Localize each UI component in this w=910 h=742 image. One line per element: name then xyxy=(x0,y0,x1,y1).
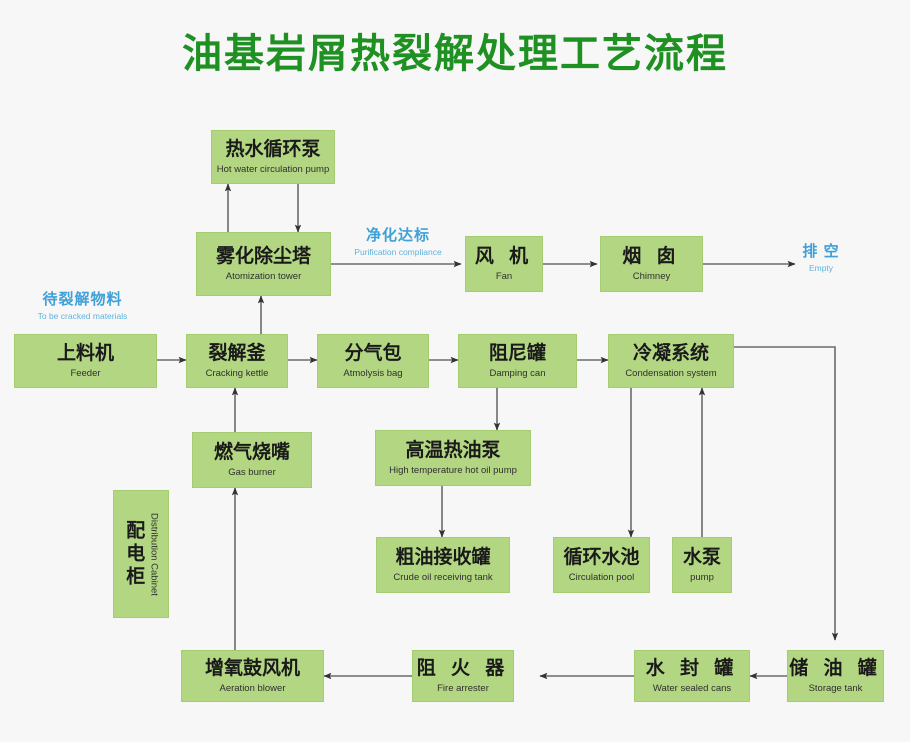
node-hot-oil-pump[interactable]: 高温热油泵 High temperature hot oil pump xyxy=(375,430,531,486)
node-label-en: Feeder xyxy=(70,368,100,379)
node-atmolysis-bag[interactable]: 分气包 Atmolysis bag xyxy=(317,334,429,388)
node-fan[interactable]: 风 机 Fan xyxy=(465,236,543,292)
node-label-en: Aeration blower xyxy=(219,683,285,694)
node-storage-tank[interactable]: 储 油 罐 Storage tank xyxy=(787,650,884,702)
node-label-cn: 粗油接收罐 xyxy=(395,547,490,569)
note-empty: 排 空 Empty xyxy=(790,244,852,273)
node-label-cn: 热水循环泵 xyxy=(225,139,320,161)
node-water-sealed-cans[interactable]: 水 封 罐 Water sealed cans xyxy=(634,650,750,702)
flowchart-canvas: 油基岩屑热裂解处理工艺流程 xyxy=(0,0,910,742)
node-atomization-tower[interactable]: 雾化除尘塔 Atomization tower xyxy=(196,232,331,296)
note-label-cn: 净化达标 xyxy=(338,228,458,245)
node-label-cn: 燃气烧嘴 xyxy=(214,442,290,464)
node-label-cn: 烟 囱 xyxy=(622,246,680,268)
node-water-pump[interactable]: 水泵 pump xyxy=(672,537,732,593)
node-feeder[interactable]: 上料机 Feeder xyxy=(14,334,157,388)
node-distribution-cabinet[interactable]: 配电柜 Distribution Cabinet xyxy=(113,490,169,618)
node-crude-oil-receiving-tank[interactable]: 粗油接收罐 Crude oil receiving tank xyxy=(376,537,510,593)
node-label-cn: 水 封 罐 xyxy=(646,658,739,680)
node-label-en: Cracking kettle xyxy=(206,368,269,379)
node-label-en: Condensation system xyxy=(625,368,716,379)
node-damping-can[interactable]: 阻尼罐 Damping can xyxy=(458,334,577,388)
node-label-cn: 雾化除尘塔 xyxy=(216,246,311,268)
node-chimney[interactable]: 烟 囱 Chimney xyxy=(600,236,703,292)
node-label-cn: 阻尼罐 xyxy=(489,343,546,365)
node-label-en: Hot water circulation pump xyxy=(217,164,329,175)
node-gas-burner[interactable]: 燃气烧嘴 Gas burner xyxy=(192,432,312,488)
node-label-cn: 风 机 xyxy=(475,246,533,268)
node-label-en: Crude oil receiving tank xyxy=(393,572,492,583)
node-label-en: Atmolysis bag xyxy=(343,368,402,379)
node-label-en: Distribution Cabinet xyxy=(148,513,159,596)
node-label-cn: 高温热油泵 xyxy=(405,440,500,462)
node-label-en: High temperature hot oil pump xyxy=(389,465,517,476)
node-label-en: Storage tank xyxy=(809,683,863,694)
note-label-cn: 待裂解物料 xyxy=(25,292,140,309)
node-label-cn: 增氧鼓风机 xyxy=(205,658,300,680)
note-label-en: Purification compliance xyxy=(338,247,458,257)
node-hot-water-pump[interactable]: 热水循环泵 Hot water circulation pump xyxy=(211,130,335,184)
node-label-cn: 上料机 xyxy=(57,343,114,365)
node-label-en: Circulation pool xyxy=(569,572,634,583)
node-label-en: Water sealed cans xyxy=(653,683,731,694)
node-label-en: Gas burner xyxy=(228,467,276,478)
node-label-en: Chimney xyxy=(633,271,671,282)
node-label-en: Atomization tower xyxy=(226,271,302,282)
note-input-material: 待裂解物料 To be cracked materials xyxy=(25,292,140,321)
node-cracking-kettle[interactable]: 裂解釜 Cracking kettle xyxy=(186,334,288,388)
node-circulation-pool[interactable]: 循环水池 Circulation pool xyxy=(553,537,650,593)
node-label-en: pump xyxy=(690,572,714,583)
note-label-en: Empty xyxy=(790,263,852,273)
node-label-cn: 水泵 xyxy=(683,547,721,569)
node-label-cn: 裂解釜 xyxy=(208,343,265,365)
node-aeration-blower[interactable]: 增氧鼓风机 Aeration blower xyxy=(181,650,324,702)
note-label-en: To be cracked materials xyxy=(25,311,140,321)
node-label-en: Fan xyxy=(496,271,512,282)
node-label-cn: 配电柜 xyxy=(122,520,144,589)
node-label-cn: 储 油 罐 xyxy=(789,658,882,680)
node-label-cn: 循环水池 xyxy=(563,547,639,569)
node-condensation-system[interactable]: 冷凝系统 Condensation system xyxy=(608,334,734,388)
note-label-cn: 排 空 xyxy=(790,244,852,261)
note-purification: 净化达标 Purification compliance xyxy=(338,228,458,257)
node-fire-arrester[interactable]: 阻 火 器 Fire arrester xyxy=(412,650,514,702)
node-label-en: Damping can xyxy=(490,368,546,379)
node-label-cn: 分气包 xyxy=(344,343,401,365)
node-label-cn: 阻 火 器 xyxy=(417,658,510,680)
node-label-cn: 冷凝系统 xyxy=(633,343,709,365)
node-label-en: Fire arrester xyxy=(437,683,489,694)
